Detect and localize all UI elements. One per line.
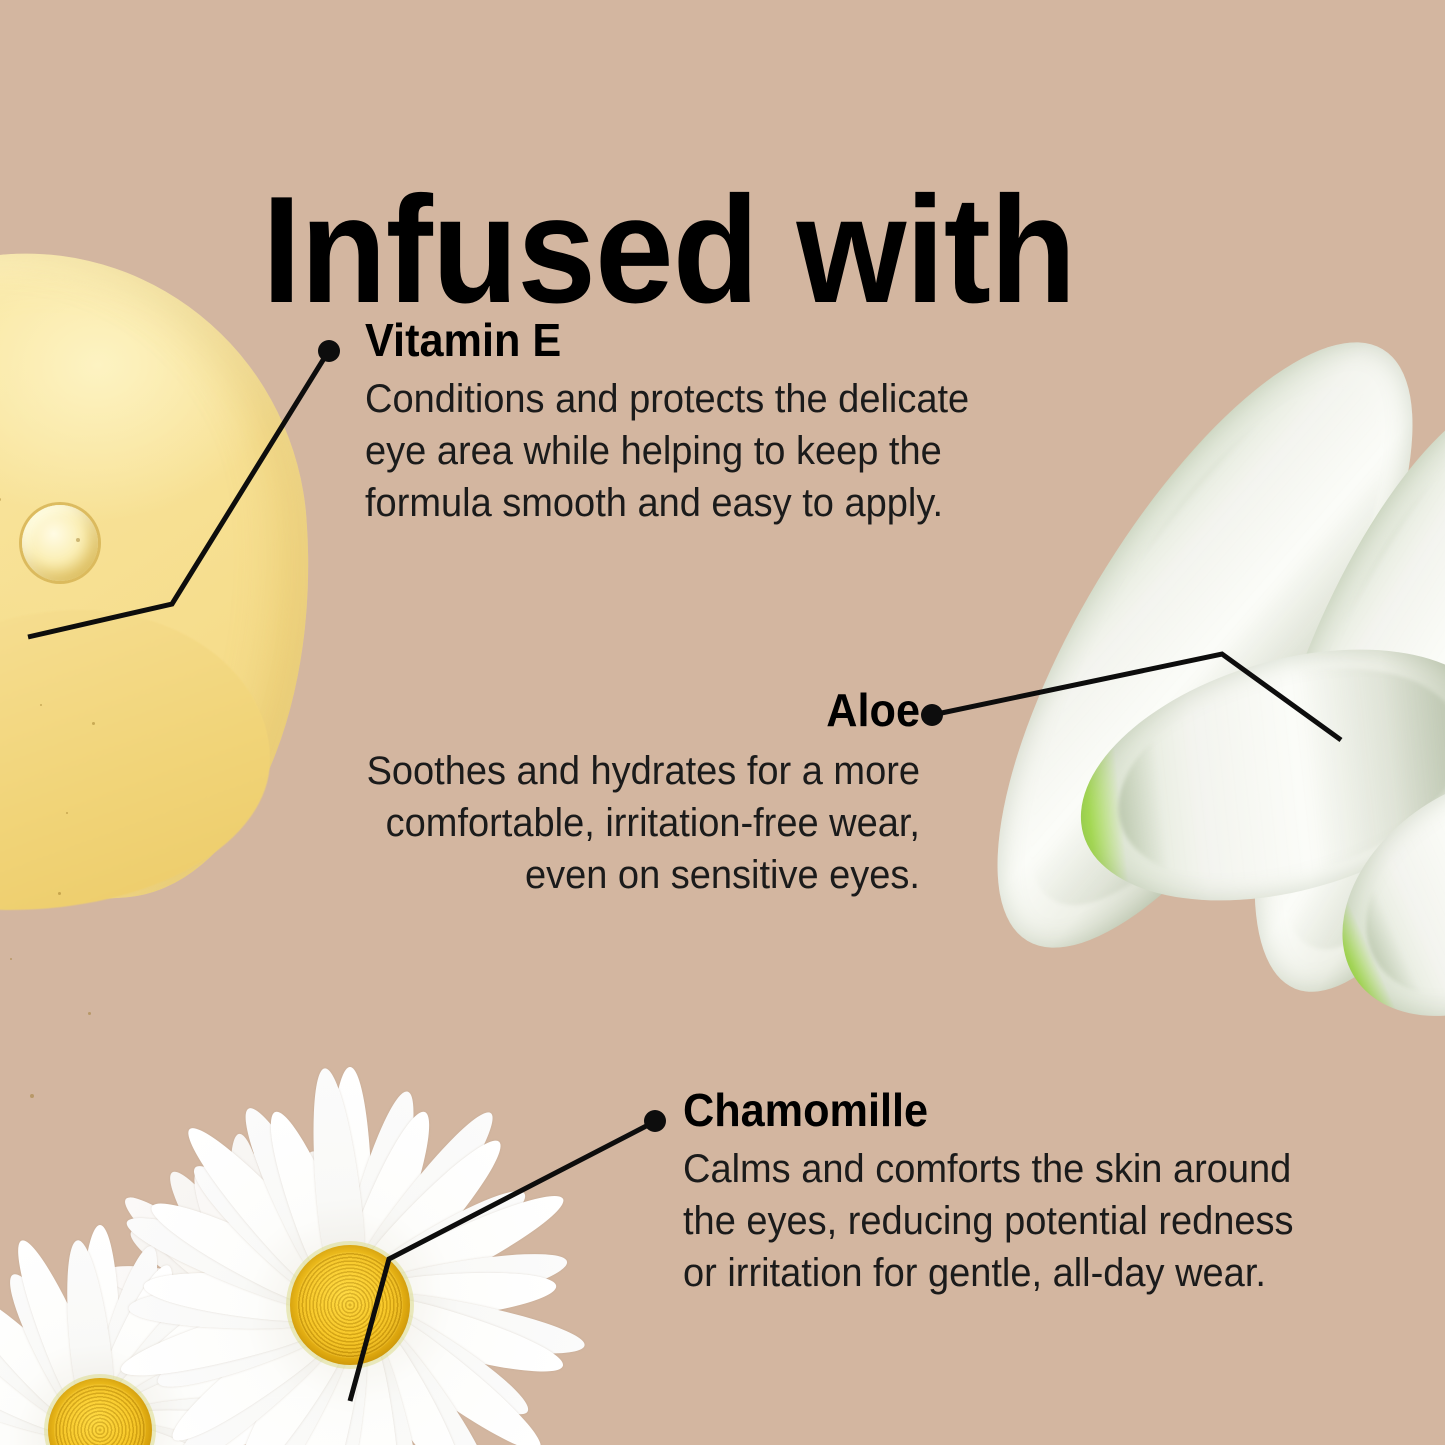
page-title: Infused with [262, 174, 1075, 326]
ingredient-description-vitamin-e: Conditions and protects the delicate eye… [365, 373, 992, 529]
leader-line-chamomille [350, 1122, 654, 1401]
leader-dot-chamomille [644, 1110, 666, 1132]
infographic-canvas: Infused with Vitamin E Conditions and pr… [0, 0, 1445, 1445]
leader-dot-vitamin-e [318, 340, 340, 362]
ingredient-description-aloe: Soothes and hydrates for a more comforta… [331, 745, 920, 901]
leader-line-vitamin-e [28, 352, 328, 637]
ingredient-block-chamomille: Chamomille Calms and comforts the skin a… [683, 1086, 1343, 1299]
ingredient-name-aloe: Aloe [337, 686, 920, 735]
ingredient-block-vitamin-e: Vitamin E Conditions and protects the de… [365, 316, 1025, 529]
leader-dot-aloe [921, 704, 943, 726]
ingredient-name-chamomille: Chamomille [683, 1086, 1303, 1135]
ingredient-name-vitamin-e: Vitamin E [365, 316, 985, 365]
leader-line-aloe [932, 654, 1341, 740]
ingredient-description-chamomille: Calms and comforts the skin around the e… [683, 1143, 1310, 1299]
ingredient-block-aloe: Aloe Soothes and hydrates for a more com… [300, 686, 920, 901]
